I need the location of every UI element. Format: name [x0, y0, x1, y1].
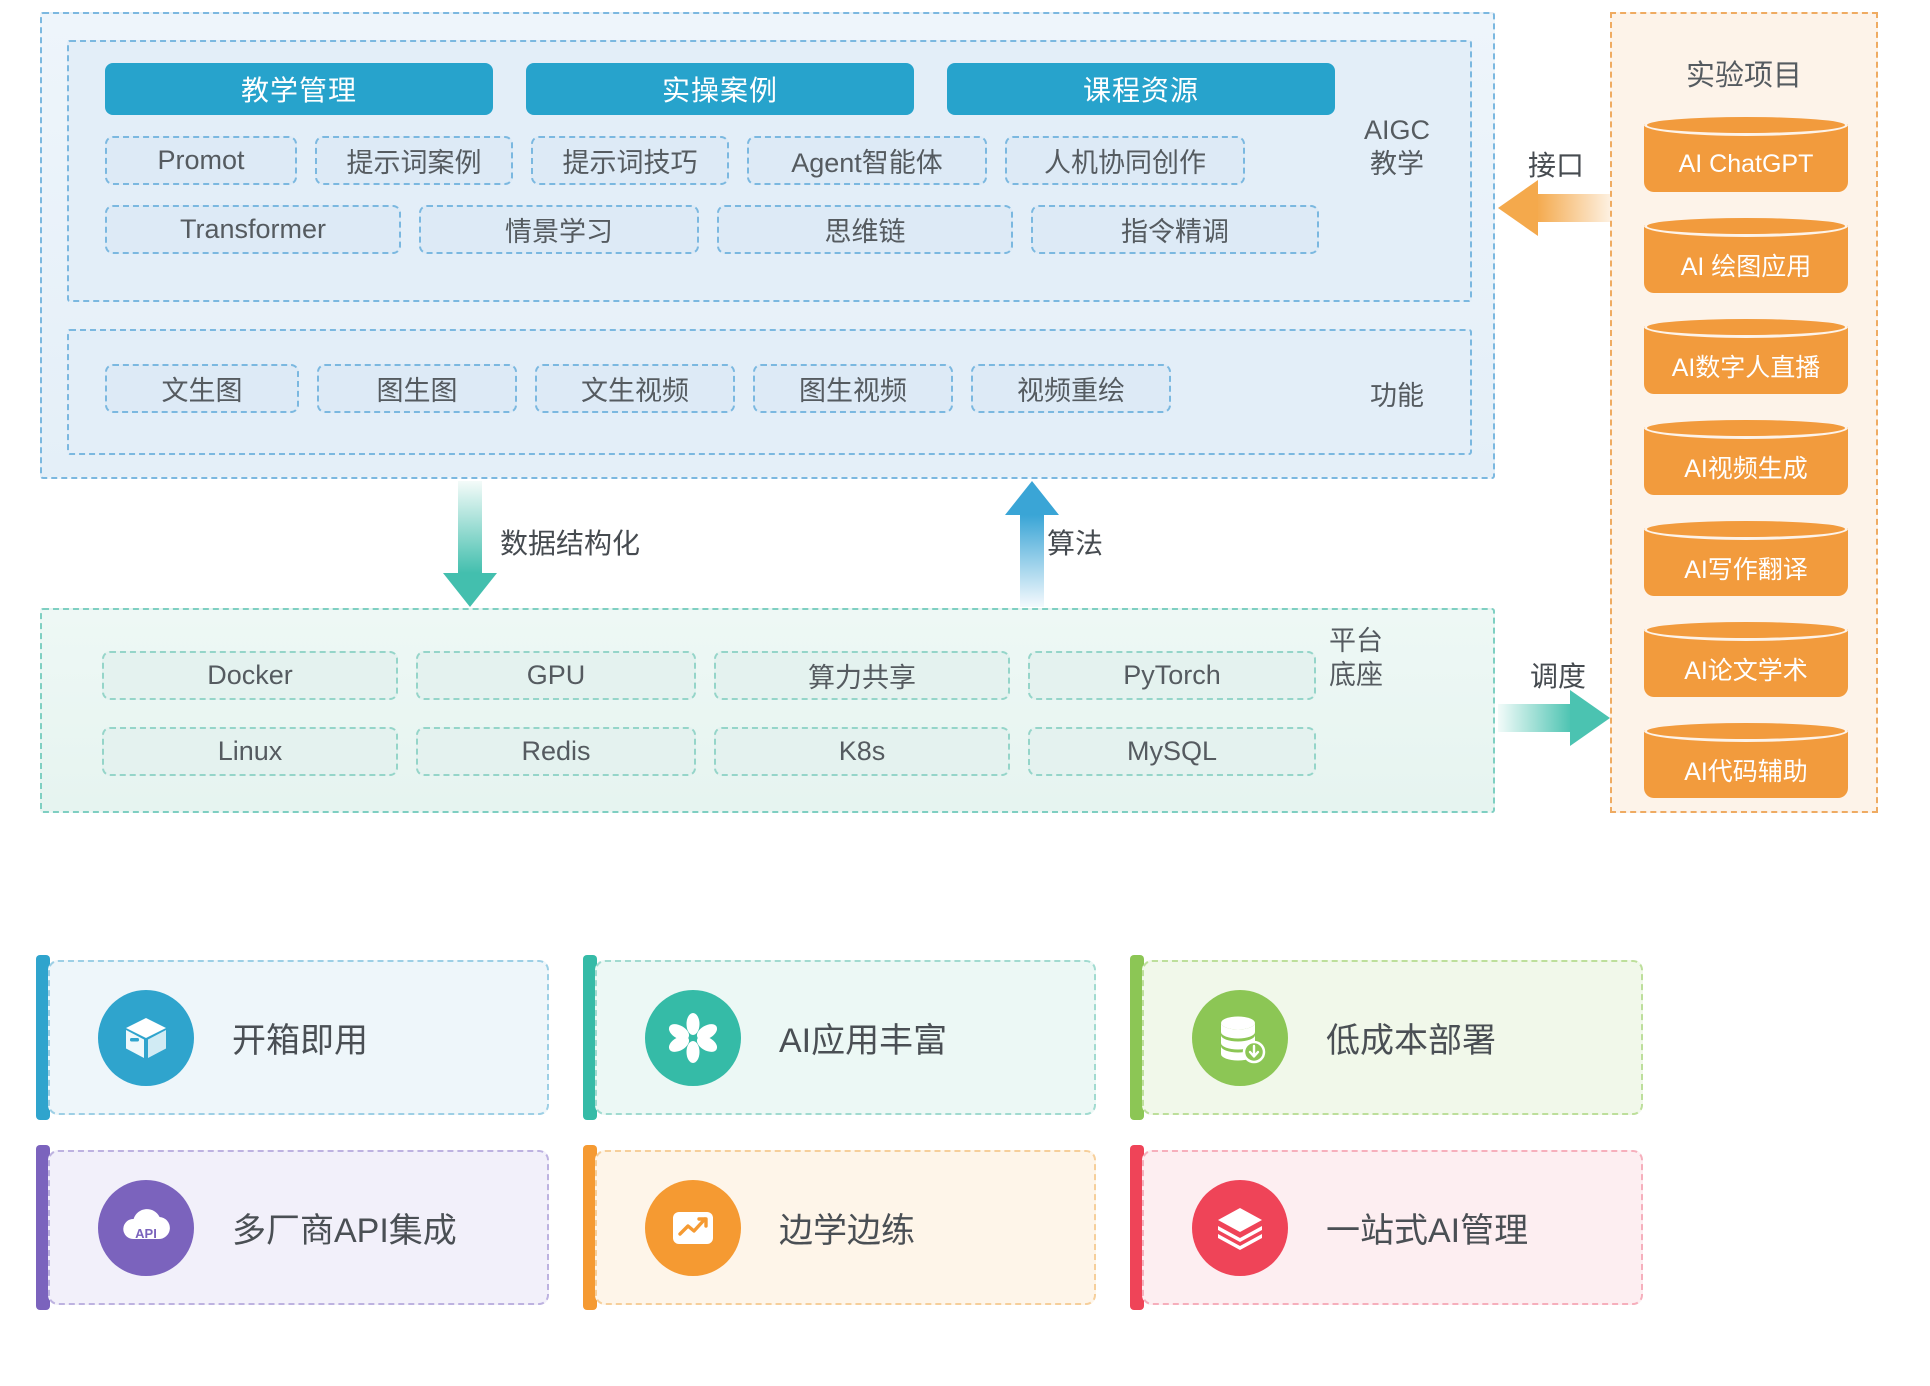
feature-card-multi-vendor-api[interactable]: API 多厂商API集成 — [36, 1145, 549, 1310]
experiment-item-chatgpt[interactable]: AI ChatGPT — [1644, 114, 1848, 192]
chip-compute-sharing[interactable]: 算力共享 — [714, 651, 1010, 700]
interface-label: 接口 — [1528, 144, 1584, 184]
cylinder-top — [1644, 619, 1848, 641]
aigc-side-label: AIGC 教学 — [1337, 114, 1457, 182]
chip-text-to-image[interactable]: 文生图 — [105, 364, 299, 413]
chip-image-to-video[interactable]: 图生视频 — [753, 364, 953, 413]
platform-base-row-2: Linux Redis K8s MySQL — [102, 727, 1316, 776]
experiment-item-digital-human-live[interactable]: AI数字人直播 — [1644, 316, 1848, 394]
chip-video-repaint[interactable]: 视频重绘 — [971, 364, 1171, 413]
experiment-item-drawing[interactable]: AI 绘图应用 — [1644, 215, 1848, 293]
chart-card-icon — [645, 1180, 741, 1276]
chip-linux[interactable]: Linux — [102, 727, 398, 776]
chip-gpu[interactable]: GPU — [416, 651, 696, 700]
chip-mysql[interactable]: MySQL — [1028, 727, 1316, 776]
aigc-tab-row: 教学管理 实操案例 课程资源 — [105, 63, 1335, 115]
experiment-item-label: AI数字人直播 — [1644, 338, 1848, 394]
cylinder-top — [1644, 215, 1848, 237]
function-chip-row: 文生图 图生图 文生视频 图生视频 视频重绘 — [105, 364, 1171, 413]
data-structuring-label: 数据结构化 — [500, 522, 640, 562]
arrow-shaft — [1020, 515, 1044, 607]
experiment-item-label: AI视频生成 — [1644, 439, 1848, 495]
flower-icon — [645, 990, 741, 1086]
chip-text-to-video[interactable]: 文生视频 — [535, 364, 735, 413]
platform-base-side-label: 平台 底座 — [1296, 625, 1416, 693]
function-inner-panel: 文生图 图生图 文生视频 图生视频 视频重绘 — [67, 329, 1472, 455]
aigc-chip-row-2: Transformer 情景学习 思维链 指令精调 — [105, 205, 1319, 254]
feature-card-body: API 多厂商API集成 — [48, 1150, 549, 1305]
chip-in-context-learning[interactable]: 情景学习 — [419, 205, 699, 254]
arrow-head — [1005, 481, 1059, 515]
chip-chain-of-thought[interactable]: 思维链 — [717, 205, 1013, 254]
chip-transformer[interactable]: Transformer — [105, 205, 401, 254]
experiment-item-paper-academic[interactable]: AI论文学术 — [1644, 619, 1848, 697]
feature-card-ready-to-use[interactable]: 开箱即用 — [36, 955, 549, 1120]
tab-practical-cases[interactable]: 实操案例 — [526, 63, 914, 115]
experiment-item-code-assist[interactable]: AI代码辅助 — [1644, 720, 1848, 798]
feature-card-label: 多厂商API集成 — [232, 1203, 457, 1252]
cylinder-top — [1644, 518, 1848, 540]
aigc-teaching-panel: 教学管理 实操案例 课程资源 Promot 提示词案例 提示词技巧 Agent智… — [40, 12, 1495, 479]
chip-agent[interactable]: Agent智能体 — [747, 136, 987, 185]
scheduling-arrow — [1498, 690, 1610, 746]
experiment-item-label: AI代码辅助 — [1644, 742, 1848, 798]
chip-promot[interactable]: Promot — [105, 136, 297, 185]
feature-card-rich-ai-apps[interactable]: AI应用丰富 — [583, 955, 1096, 1120]
feature-card-body: 边学边练 — [595, 1150, 1096, 1305]
chip-image-to-image[interactable]: 图生图 — [317, 364, 517, 413]
experiment-item-writing-translation[interactable]: AI写作翻译 — [1644, 518, 1848, 596]
diagram-canvas: 教学管理 实操案例 课程资源 Promot 提示词案例 提示词技巧 Agent智… — [0, 0, 1930, 1386]
arrow-head — [1570, 690, 1610, 746]
tab-teaching-management[interactable]: 教学管理 — [105, 63, 493, 115]
experiment-projects-title: 实验项目 — [1612, 52, 1876, 94]
chip-k8s[interactable]: K8s — [714, 727, 1010, 776]
experiment-cylinder-list: AI ChatGPT AI 绘图应用 AI数字人直播 AI视频生成 AI写作翻译 — [1644, 114, 1848, 821]
chip-instruction-tuning[interactable]: 指令精调 — [1031, 205, 1319, 254]
interface-arrow — [1498, 180, 1610, 236]
feature-card-learn-while-practice[interactable]: 边学边练 — [583, 1145, 1096, 1310]
cylinder-top — [1644, 114, 1848, 136]
cylinder-top — [1644, 316, 1848, 338]
feature-card-body: 一站式AI管理 — [1142, 1150, 1643, 1305]
feature-card-one-stop-ai-management[interactable]: 一站式AI管理 — [1130, 1145, 1643, 1310]
feature-card-low-cost-deployment[interactable]: 低成本部署 — [1130, 955, 1643, 1120]
scheduling-label: 调度 — [1530, 655, 1586, 695]
experiment-item-label: AI论文学术 — [1644, 641, 1848, 697]
feature-card-body: 低成本部署 — [1142, 960, 1643, 1115]
chip-docker[interactable]: Docker — [102, 651, 398, 700]
experiment-projects-panel: 实验项目 AI ChatGPT AI 绘图应用 AI数字人直播 AI视频生成 — [1610, 12, 1878, 813]
svg-text:API: API — [135, 1226, 157, 1241]
feature-card-body: AI应用丰富 — [595, 960, 1096, 1115]
feature-card-label: 一站式AI管理 — [1326, 1203, 1528, 1252]
feature-card-label: 边学边练 — [779, 1203, 915, 1252]
arrow-shaft — [1498, 704, 1572, 732]
chip-pytorch[interactable]: PyTorch — [1028, 651, 1316, 700]
feature-card-body: 开箱即用 — [48, 960, 549, 1115]
function-side-label: 功能 — [1337, 380, 1457, 414]
feature-card-label: AI应用丰富 — [779, 1013, 947, 1062]
aigc-chip-row-1: Promot 提示词案例 提示词技巧 Agent智能体 人机协同创作 — [105, 136, 1245, 185]
feature-card-label: 低成本部署 — [1326, 1013, 1496, 1062]
chip-prompt-cases[interactable]: 提示词案例 — [315, 136, 513, 185]
api-cloud-icon: API — [98, 1180, 194, 1276]
arrow-shaft — [1536, 194, 1610, 222]
platform-base-row-1: Docker GPU 算力共享 PyTorch — [102, 651, 1316, 700]
platform-base-panel: Docker GPU 算力共享 PyTorch Linux Redis K8s … — [40, 608, 1495, 813]
aigc-teaching-inner-panel: 教学管理 实操案例 课程资源 Promot 提示词案例 提示词技巧 Agent智… — [67, 40, 1472, 302]
box-icon — [98, 990, 194, 1086]
database-download-icon — [1192, 990, 1288, 1086]
experiment-item-label: AI ChatGPT — [1644, 136, 1848, 192]
arrow-head — [1498, 180, 1538, 236]
chip-human-ai-cocreation[interactable]: 人机协同创作 — [1005, 136, 1245, 185]
experiment-item-label: AI 绘图应用 — [1644, 237, 1848, 293]
chip-prompt-skills[interactable]: 提示词技巧 — [531, 136, 729, 185]
cylinder-top — [1644, 720, 1848, 742]
experiment-item-video-generation[interactable]: AI视频生成 — [1644, 417, 1848, 495]
data-structuring-arrow — [443, 481, 497, 607]
tab-course-resources[interactable]: 课程资源 — [947, 63, 1335, 115]
layers-icon — [1192, 1180, 1288, 1276]
cylinder-top — [1644, 417, 1848, 439]
chip-redis[interactable]: Redis — [416, 727, 696, 776]
arrow-shaft — [458, 481, 482, 573]
feature-card-label: 开箱即用 — [232, 1013, 368, 1062]
algorithm-label: 算法 — [1047, 522, 1103, 562]
experiment-item-label: AI写作翻译 — [1644, 540, 1848, 596]
arrow-head — [443, 573, 497, 607]
